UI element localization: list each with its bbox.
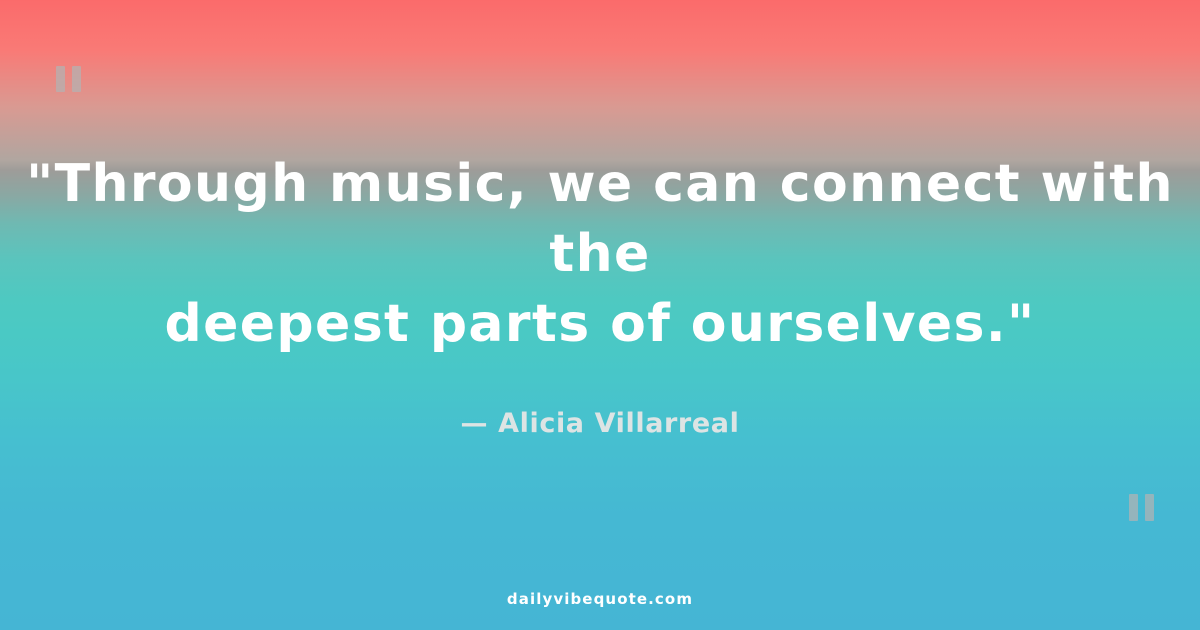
quote-card: "Through music, we can connect with the …	[0, 0, 1200, 630]
quote-mark-bar-left	[1129, 494, 1138, 521]
quote-attribution: — Alicia Villarreal	[461, 359, 740, 441]
quote-content: "Through music, we can connect with the …	[0, 0, 1200, 630]
quote-text: "Through music, we can connect with the …	[24, 149, 1176, 359]
quote-text-line-2: deepest parts of ourselves."	[24, 289, 1176, 359]
site-footer-url: dailyvibequote.com	[0, 590, 1200, 608]
quote-text-line-1: "Through music, we can connect with the	[24, 149, 1176, 289]
quote-mark-icon-bottom-right	[1129, 494, 1154, 521]
quote-mark-bar-right	[1145, 494, 1154, 521]
